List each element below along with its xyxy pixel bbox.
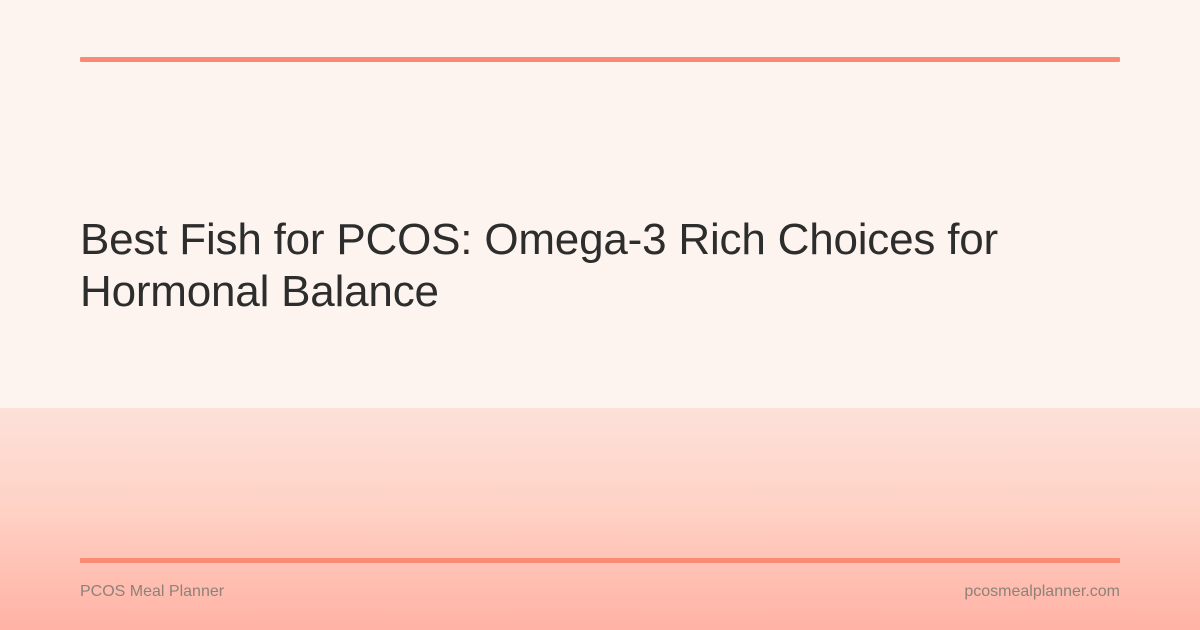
footer-brand-name: PCOS Meal Planner <box>80 581 224 603</box>
footer-bar: PCOS Meal Planner pcosmealplanner.com <box>80 578 1120 606</box>
og-share-card: Best Fish for PCOS: Omega-3 Rich Choices… <box>0 0 1200 630</box>
footer-domain: pcosmealplanner.com <box>964 581 1120 603</box>
page-title: Best Fish for PCOS: Omega-3 Rich Choices… <box>80 214 1080 318</box>
title-block: Best Fish for PCOS: Omega-3 Rich Choices… <box>80 214 1080 318</box>
top-accent-rule <box>80 57 1120 62</box>
bottom-accent-rule <box>80 558 1120 563</box>
